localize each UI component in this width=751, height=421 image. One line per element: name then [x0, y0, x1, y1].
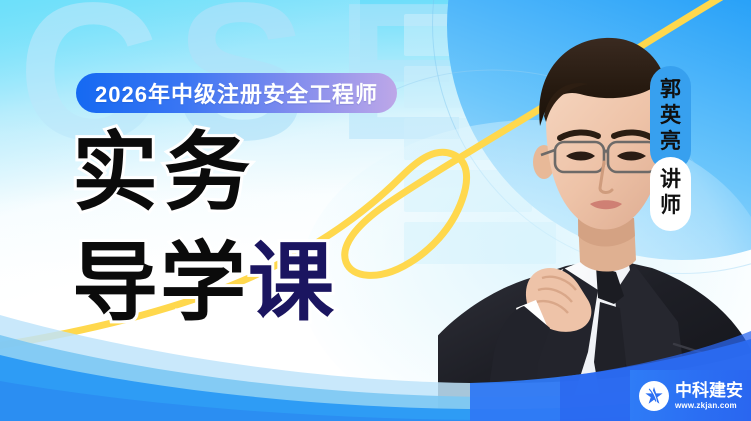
course-year-badge: 2026年中级注册安全工程师	[76, 73, 397, 113]
instructor-role-char-2: 师	[650, 193, 691, 219]
course-title-secondary: 导学课	[72, 240, 336, 326]
zkjan-emblem-glyph	[643, 385, 665, 407]
course-title-primary: 实务	[72, 130, 256, 216]
instructor-name-char-1: 郭	[650, 77, 691, 103]
instructor-role-pill: 讲 师	[650, 157, 691, 231]
instructor-role-char-1: 讲	[650, 167, 691, 193]
brand-logo-bar[interactable]: 中科建安 www.zkjan.com	[630, 370, 751, 421]
instructor-name-pill: 郭 英 亮	[650, 66, 691, 171]
course-title-secondary-navy: 课	[248, 235, 336, 331]
brand-url: www.zkjan.com	[675, 402, 743, 410]
brand-logo-text: 中科建安 www.zkjan.com	[675, 382, 743, 410]
course-title-secondary-black: 导学	[72, 235, 248, 331]
course-cover-poster: C S E	[0, 0, 751, 421]
brand-name: 中科建安	[675, 382, 743, 399]
zkjan-emblem-icon	[639, 381, 669, 411]
instructor-name-char-3: 亮	[650, 129, 691, 155]
instructor-badge: 郭 英 亮 讲 师	[650, 66, 691, 231]
instructor-name-char-2: 英	[650, 103, 691, 129]
